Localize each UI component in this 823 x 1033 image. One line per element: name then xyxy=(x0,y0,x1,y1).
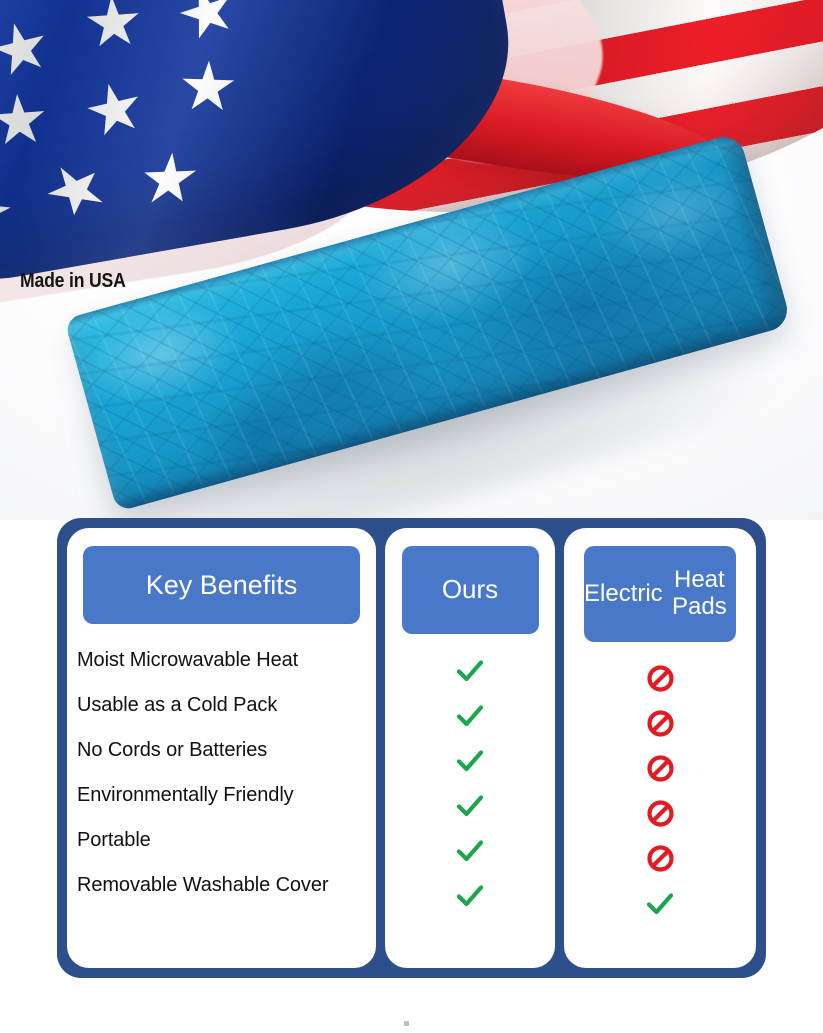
table-row xyxy=(385,738,555,783)
flag-star xyxy=(173,0,241,47)
table-row xyxy=(564,656,756,701)
table-row xyxy=(564,881,756,926)
table-row: Portable xyxy=(77,818,386,863)
flag-star xyxy=(0,92,48,150)
table-row xyxy=(385,828,555,873)
flag-star xyxy=(82,78,147,143)
check-icon xyxy=(454,790,486,822)
table-row: No Cords or Batteries xyxy=(77,728,386,773)
flag-star xyxy=(180,60,236,116)
table-row: Removable Washable Cover xyxy=(77,863,386,908)
table-row xyxy=(564,791,756,836)
electric-row-list xyxy=(564,656,756,926)
prohibition-icon xyxy=(647,665,674,692)
check-icon xyxy=(644,888,676,920)
table-row: Moist Microwavable Heat xyxy=(77,638,386,683)
benefit-label: Environmentally Friendly xyxy=(77,784,294,807)
ours-column-header: Ours xyxy=(402,546,539,634)
benefits-row-list: Moist Microwavable Heat Usable as a Cold… xyxy=(57,638,386,908)
flag-star xyxy=(0,17,53,82)
table-row xyxy=(564,701,756,746)
ours-column: Ours xyxy=(385,528,555,968)
table-row xyxy=(385,873,555,918)
electric-heat-pads-column-header: Electric Heat Pads xyxy=(584,546,736,642)
table-row xyxy=(385,648,555,693)
check-icon xyxy=(454,880,486,912)
benefit-label: Moist Microwavable Heat xyxy=(77,649,298,672)
ours-row-list xyxy=(385,648,555,918)
made-in-usa-caption: Made in USA xyxy=(20,270,126,293)
prohibition-icon xyxy=(647,710,674,737)
table-row xyxy=(385,693,555,738)
comparison-table: Key Benefits Moist Microwavable Heat Usa… xyxy=(57,518,766,978)
electric-header-line1: Electric xyxy=(584,581,663,608)
benefit-label: Portable xyxy=(77,829,151,852)
flag-star xyxy=(85,0,143,52)
benefit-label: No Cords or Batteries xyxy=(77,739,267,762)
product-listing-image: Made in USA Key Benefits Moist Microwava… xyxy=(0,0,823,1033)
benefits-column-header: Key Benefits xyxy=(83,546,360,624)
image-artifact xyxy=(404,1021,409,1026)
prohibition-icon xyxy=(647,755,674,782)
check-icon xyxy=(454,745,486,777)
benefit-label: Usable as a Cold Pack xyxy=(77,694,277,717)
flag-star xyxy=(0,184,18,242)
table-row: Environmentally Friendly xyxy=(77,773,386,818)
table-row xyxy=(564,836,756,881)
electric-header-line2: Heat Pads xyxy=(663,567,736,621)
flag-star xyxy=(36,156,116,223)
benefits-column: Key Benefits Moist Microwavable Heat Usa… xyxy=(67,528,376,968)
table-row: Usable as a Cold Pack xyxy=(77,683,386,728)
check-icon xyxy=(454,835,486,867)
product-photo: Made in USA xyxy=(0,0,823,520)
prohibition-icon xyxy=(647,845,674,872)
check-icon xyxy=(454,655,486,687)
flag-star xyxy=(140,152,200,208)
electric-heat-pads-column: Electric Heat Pads xyxy=(564,528,756,968)
table-row xyxy=(385,783,555,828)
prohibition-icon xyxy=(647,800,674,827)
benefit-label: Removable Washable Cover xyxy=(77,874,328,897)
check-icon xyxy=(454,700,486,732)
table-row xyxy=(564,746,756,791)
